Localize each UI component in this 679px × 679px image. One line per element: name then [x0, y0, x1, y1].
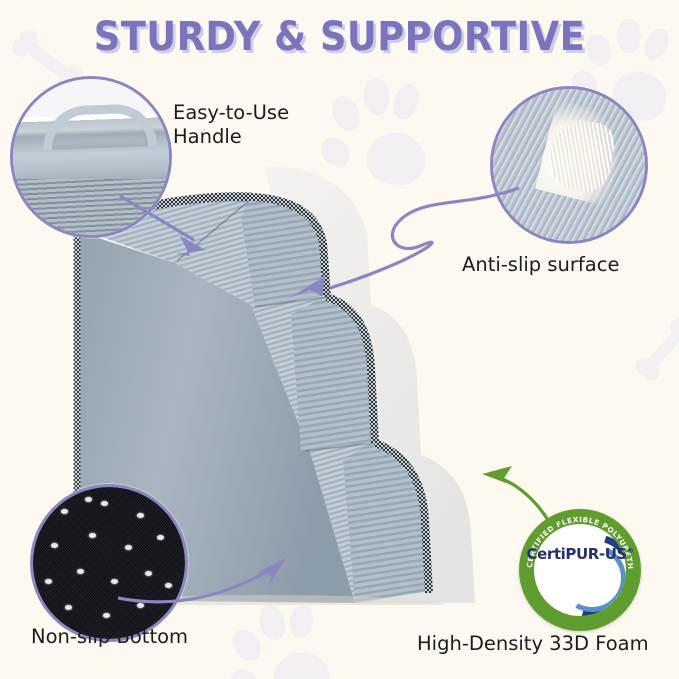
callout-label-foam: High-Density 33D Foam	[417, 632, 649, 656]
badge-registered-mark: ®	[627, 547, 634, 555]
infographic-canvas: STURDY & SUPPORTIVE	[0, 0, 679, 679]
connector-line-bottom	[118, 572, 266, 602]
badge-wordmark-text: CertiPUR-US	[526, 545, 626, 563]
arrowhead-foam-icon	[482, 466, 514, 486]
callout-label-handle: Easy-to-Use Handle	[173, 101, 289, 150]
connector-line-foam	[500, 478, 548, 520]
callout-connectors	[0, 0, 679, 679]
arrowhead-bottom-icon	[258, 558, 286, 586]
callout-label-antislip: Anti-slip surface	[462, 253, 619, 277]
connector-line-handle	[120, 196, 194, 240]
callout-label-bottom: Non-slip Bottom	[31, 625, 188, 649]
arrowhead-antislip-icon	[289, 276, 325, 298]
badge-wordmark: CertiPUR-US®	[519, 545, 641, 563]
